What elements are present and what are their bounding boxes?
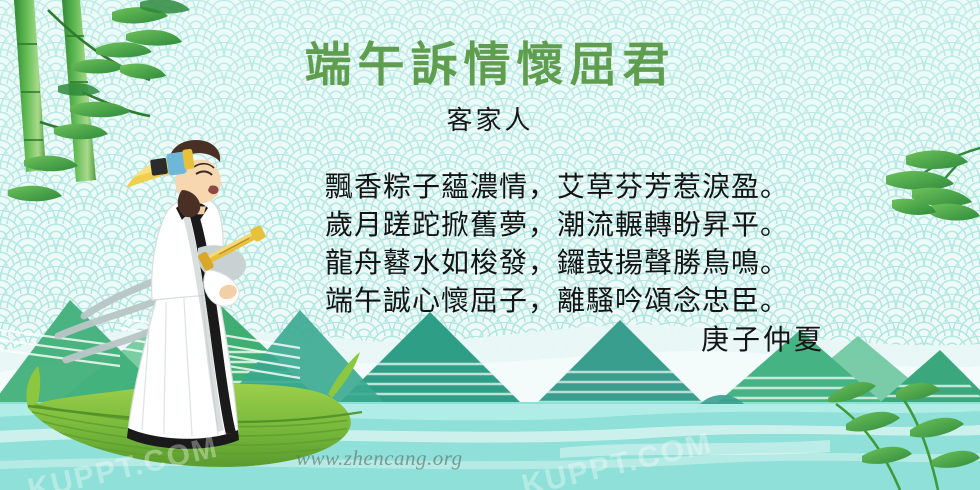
author-subtitle: 客家人 (0, 100, 980, 137)
site-watermark: www.zhencang.org (296, 446, 463, 471)
poem-body: 飄香粽子蘊濃情，艾草芬芳惹淚盈。 歲月蹉跎掀舊夢，潮流輾轉盼昇平。 龍舟鼛水如梭… (325, 168, 825, 320)
page-title: 端午訴情懷屈君 (0, 26, 980, 95)
poem-signature: 庚子仲夏 (325, 318, 831, 358)
reed-grass-blades (828, 382, 980, 468)
poem-line-4: 端午誠心懷屈子，離騷吟頌念忠臣。 (325, 282, 825, 320)
poem-line-3: 龍舟鼛水如梭發，鑼鼓揚聲勝鳥鳴。 (325, 244, 825, 282)
bamboo-leaves-right (886, 150, 980, 220)
bamboo-right (886, 148, 980, 220)
poster-canvas: 端午訴情懷屈君 客家人 飄香粽子蘊濃情，艾草芬芳惹淚盈。 歲月蹉跎掀舊夢，潮流輾… (0, 0, 980, 490)
poem-line-2: 歲月蹉跎掀舊夢，潮流輾轉盼昇平。 (325, 206, 825, 244)
poem-line-1: 飄香粽子蘊濃情，艾草芬芳惹淚盈。 (325, 168, 825, 206)
